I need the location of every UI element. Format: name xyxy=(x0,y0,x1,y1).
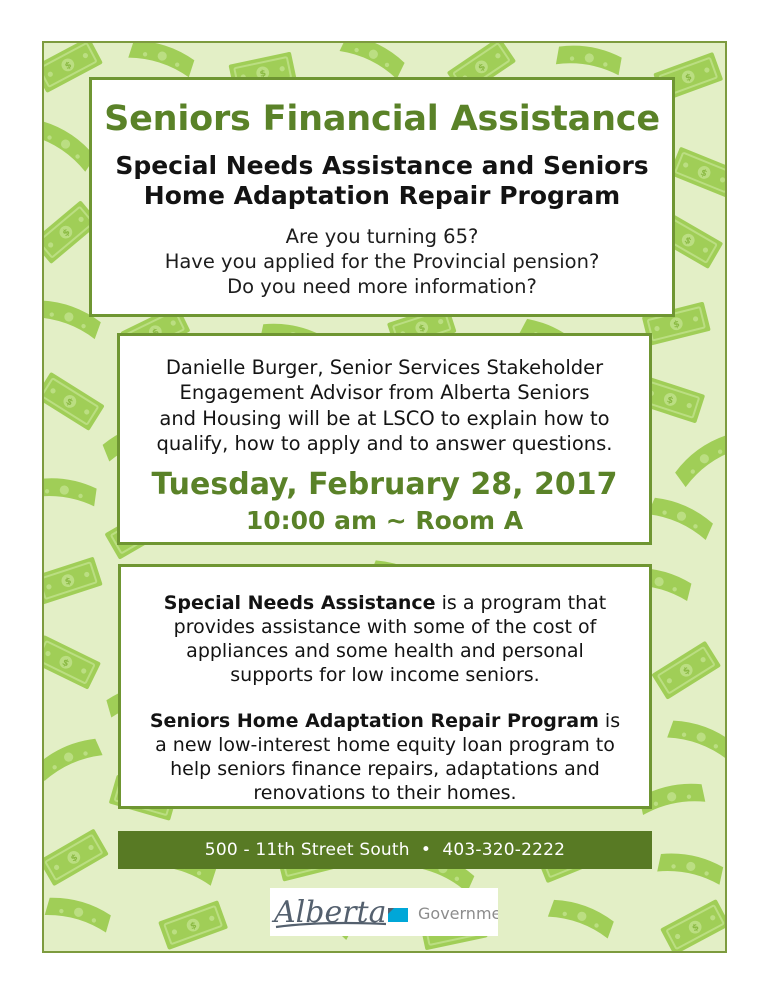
subtitle-line-1: Special Needs Assistance and Seniors xyxy=(106,151,658,181)
program-descriptions-box: Special Needs Assistance is a program th… xyxy=(118,564,652,809)
program-two-name: Seniors Home Adaptation Repair Program xyxy=(150,710,599,732)
alberta-government-logo-icon: Alberta Government xyxy=(270,888,498,936)
event-date: Tuesday, February 28, 2017 xyxy=(120,468,649,502)
event-description: Danielle Burger, Senior Services Stakeho… xyxy=(136,355,633,456)
program-one-paragraph: Special Needs Assistance is a program th… xyxy=(143,592,627,688)
address-and-phone-text: 500 - 11th Street South • 403-320-2222 xyxy=(205,840,565,860)
event-description-line-3: and Housing will be at LSCO to explain h… xyxy=(136,406,633,431)
page-title: Seniors Financial Assistance xyxy=(92,100,672,139)
address-bar: 500 - 11th Street South • 403-320-2222 xyxy=(118,831,652,869)
subtitle-line-2: Home Adaptation Repair Program xyxy=(106,181,658,211)
program-two-paragraph: Seniors Home Adaptation Repair Program i… xyxy=(143,710,627,806)
event-time-and-room: 10:00 am ~ Room A xyxy=(120,507,649,535)
government-label-text: Government xyxy=(418,904,498,923)
event-description-line-2: Engagement Advisor from Alberta Seniors xyxy=(136,380,633,405)
page-subtitle: Special Needs Assistance and Seniors Hom… xyxy=(106,151,658,211)
alberta-government-logo: Alberta Government xyxy=(270,888,498,936)
event-description-line-4: qualify, how to apply and to answer ques… xyxy=(136,431,633,456)
question-line-3: Do you need more information? xyxy=(102,275,662,300)
question-line-2: Have you applied for the Provincial pens… xyxy=(102,250,662,275)
event-details-box: Danielle Burger, Senior Services Stakeho… xyxy=(117,333,652,545)
program-one-name: Special Needs Assistance xyxy=(164,592,436,614)
event-description-line-1: Danielle Burger, Senior Services Stakeho… xyxy=(136,355,633,380)
question-list: Are you turning 65? Have you applied for… xyxy=(102,225,662,299)
header-content-box: Seniors Financial Assistance Special Nee… xyxy=(89,77,675,317)
question-line-1: Are you turning 65? xyxy=(102,225,662,250)
poster-page: $ xyxy=(0,0,768,994)
